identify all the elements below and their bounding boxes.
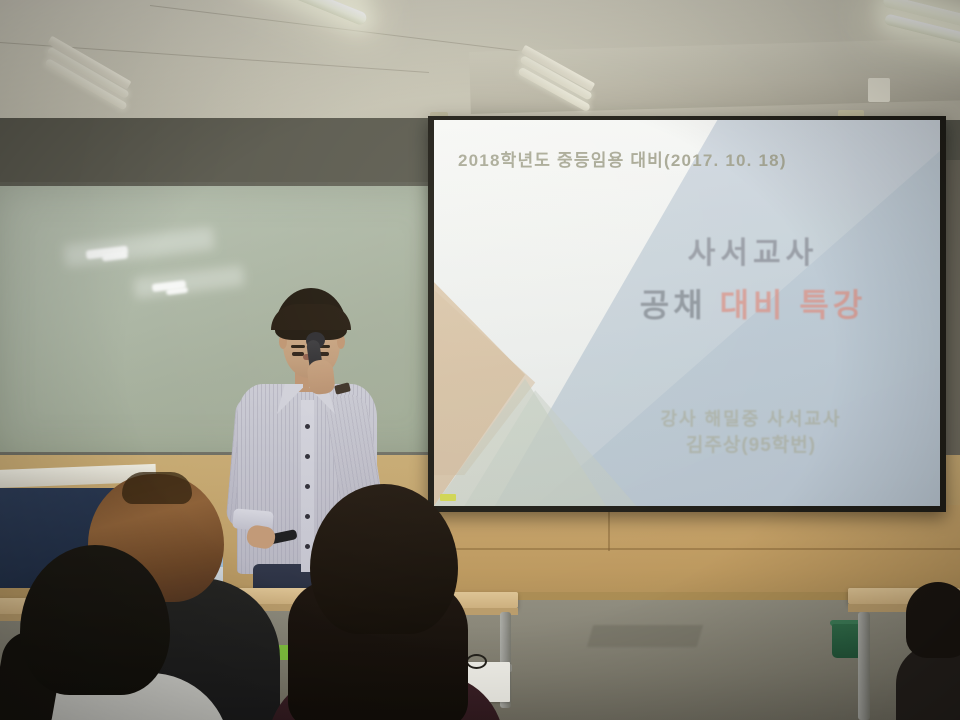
slide-title-line1: 사서교사 (584, 228, 922, 272)
projection-screen: 2018학년도 중등임용 대비(2017. 10. 18) 사서교사 공채 대비… (434, 120, 940, 506)
slide-title-line2-red: 대비 특강 (720, 287, 867, 323)
desk-leg (858, 612, 870, 720)
ceiling-sensor (868, 78, 890, 102)
classroom-photo-scene: 2018학년도 중등임용 대비(2017. 10. 18) 사서교사 공채 대비… (0, 0, 960, 720)
eyebrow (291, 345, 305, 348)
attendee-hair (906, 582, 960, 658)
slide-title-line2: 공채 대비 특강 (584, 280, 922, 326)
upper-wall-band (0, 118, 445, 192)
attendee-right (282, 484, 512, 720)
attendee-hair (20, 545, 170, 695)
slide-title: 사서교사 공채 대비 특강 (434, 228, 922, 326)
attendee-far-right (906, 582, 960, 720)
presentation-slide: 2018학년도 중등임용 대비(2017. 10. 18) 사서교사 공채 대비… (434, 120, 940, 506)
slide-title-line2-dark: 공채 (640, 287, 707, 323)
slide-presenter-line1: 강사 해밀중 사서교사 (584, 406, 918, 432)
slide-presenter-line2: 김주상(95학번) (584, 432, 918, 460)
shirt-button (305, 424, 310, 429)
floor-drain (587, 625, 703, 647)
attendee-front-left (0, 545, 225, 720)
attendee-hair (310, 484, 458, 634)
speaker-hand-holding-mic (306, 359, 335, 396)
slide-presenter-block: 강사 해밀중 사서교사 김주상(95학번) (584, 406, 918, 460)
slide-header-text: 2018학년도 중등임용 대비(2017. 10. 18) (458, 146, 898, 171)
shirt-button (305, 454, 310, 459)
